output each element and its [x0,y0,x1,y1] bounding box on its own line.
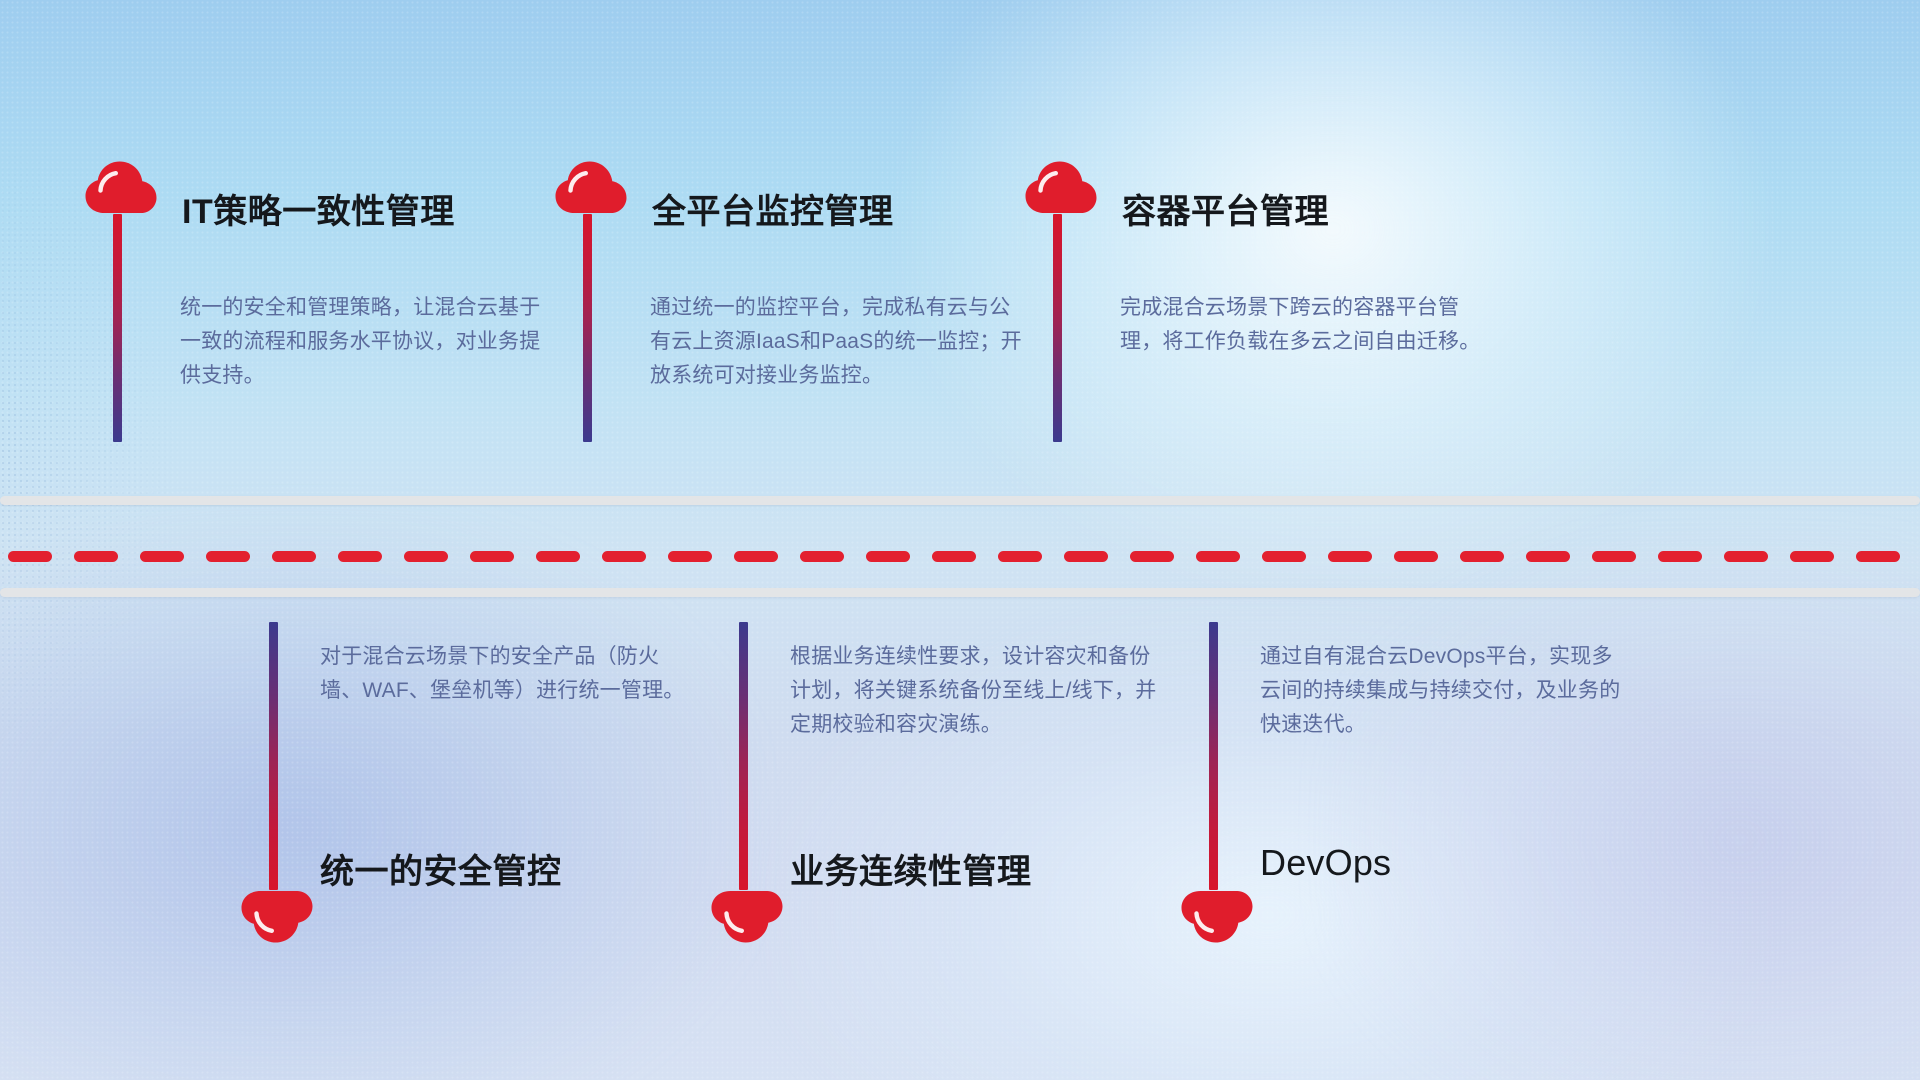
divider-dash [272,551,316,562]
body-it-policy: 统一的安全和管理策略，让混合云基于一致的流程和服务水平协议，对业务提供支持。 [180,291,552,393]
cloud-icon [1024,160,1098,214]
divider-dash [140,551,184,562]
divider-dash [1262,551,1306,562]
body-container-platform: 完成混合云场景下跨云的容器平台管理，将工作负载在多云之间自由迁移。 [1120,291,1492,359]
pin-platform-monitoring [554,160,628,442]
pin-stem [269,622,278,890]
pin-container-platform [1024,160,1098,442]
pin-stem [1053,214,1062,442]
heading-it-policy: IT策略一致性管理 [182,184,455,233]
divider-dash [1856,551,1900,562]
cloud-icon [710,890,784,944]
divider-dash [74,551,118,562]
pin-stem [1209,622,1218,890]
pin-stem [113,214,122,442]
infographic-canvas: IT策略一致性管理 统一的安全和管理策略，让混合云基于一致的流程和服务水平协议，… [0,0,1920,1080]
cloud-icon [1180,890,1254,944]
divider-dash [1724,551,1768,562]
body-devops: 通过自有混合云DevOps平台，实现多云间的持续集成与持续交付，及业务的快速迭代… [1260,640,1632,742]
divider-dash [1196,551,1240,562]
divider-dash [734,551,778,562]
divider-dash [998,551,1042,562]
divider-dash [404,551,448,562]
divider-dashed-line [0,551,1920,562]
heading-platform-monitoring: 全平台监控管理 [652,184,894,233]
pin-stem [739,622,748,890]
divider-dash [8,551,52,562]
cloud-icon [240,890,314,944]
heading-container-platform: 容器平台管理 [1122,184,1329,233]
divider-dash [602,551,646,562]
divider-dash [1460,551,1504,562]
body-unified-security: 对于混合云场景下的安全产品（防火墙、WAF、堡垒机等）进行统一管理。 [320,640,692,708]
heading-unified-security: 统一的安全管控 [320,844,562,893]
divider-dash [1328,551,1372,562]
divider-dash [1790,551,1834,562]
pin-business-continuity [710,622,784,944]
divider-dash [932,551,976,562]
divider-dash [866,551,910,562]
cloud-icon [554,160,628,214]
heading-business-continuity: 业务连续性管理 [790,844,1032,893]
divider-dash [668,551,712,562]
divider-dash [800,551,844,562]
divider-dash [1130,551,1174,562]
divider-dash [1658,551,1702,562]
divider-rule-top [0,496,1920,505]
divider-dash [338,551,382,562]
divider-dash [536,551,580,562]
heading-devops: DevOps [1260,842,1391,884]
divider-dash [470,551,514,562]
divider-dash [1064,551,1108,562]
pin-devops [1180,622,1254,944]
pin-it-policy [84,160,158,442]
divider-dash [1394,551,1438,562]
divider-rule-bottom [0,588,1920,597]
divider-dash [1526,551,1570,562]
pin-unified-security [240,622,314,944]
cloud-icon [84,160,158,214]
pin-stem [583,214,592,442]
divider-dash [206,551,250,562]
body-platform-monitoring: 通过统一的监控平台，完成私有云与公有云上资源IaaS和PaaS的统一监控；开放系… [650,291,1022,393]
body-business-continuity: 根据业务连续性要求，设计容灾和备份计划，将关键系统备份至线上/线下，并定期校验和… [790,640,1162,742]
divider-dash [1592,551,1636,562]
